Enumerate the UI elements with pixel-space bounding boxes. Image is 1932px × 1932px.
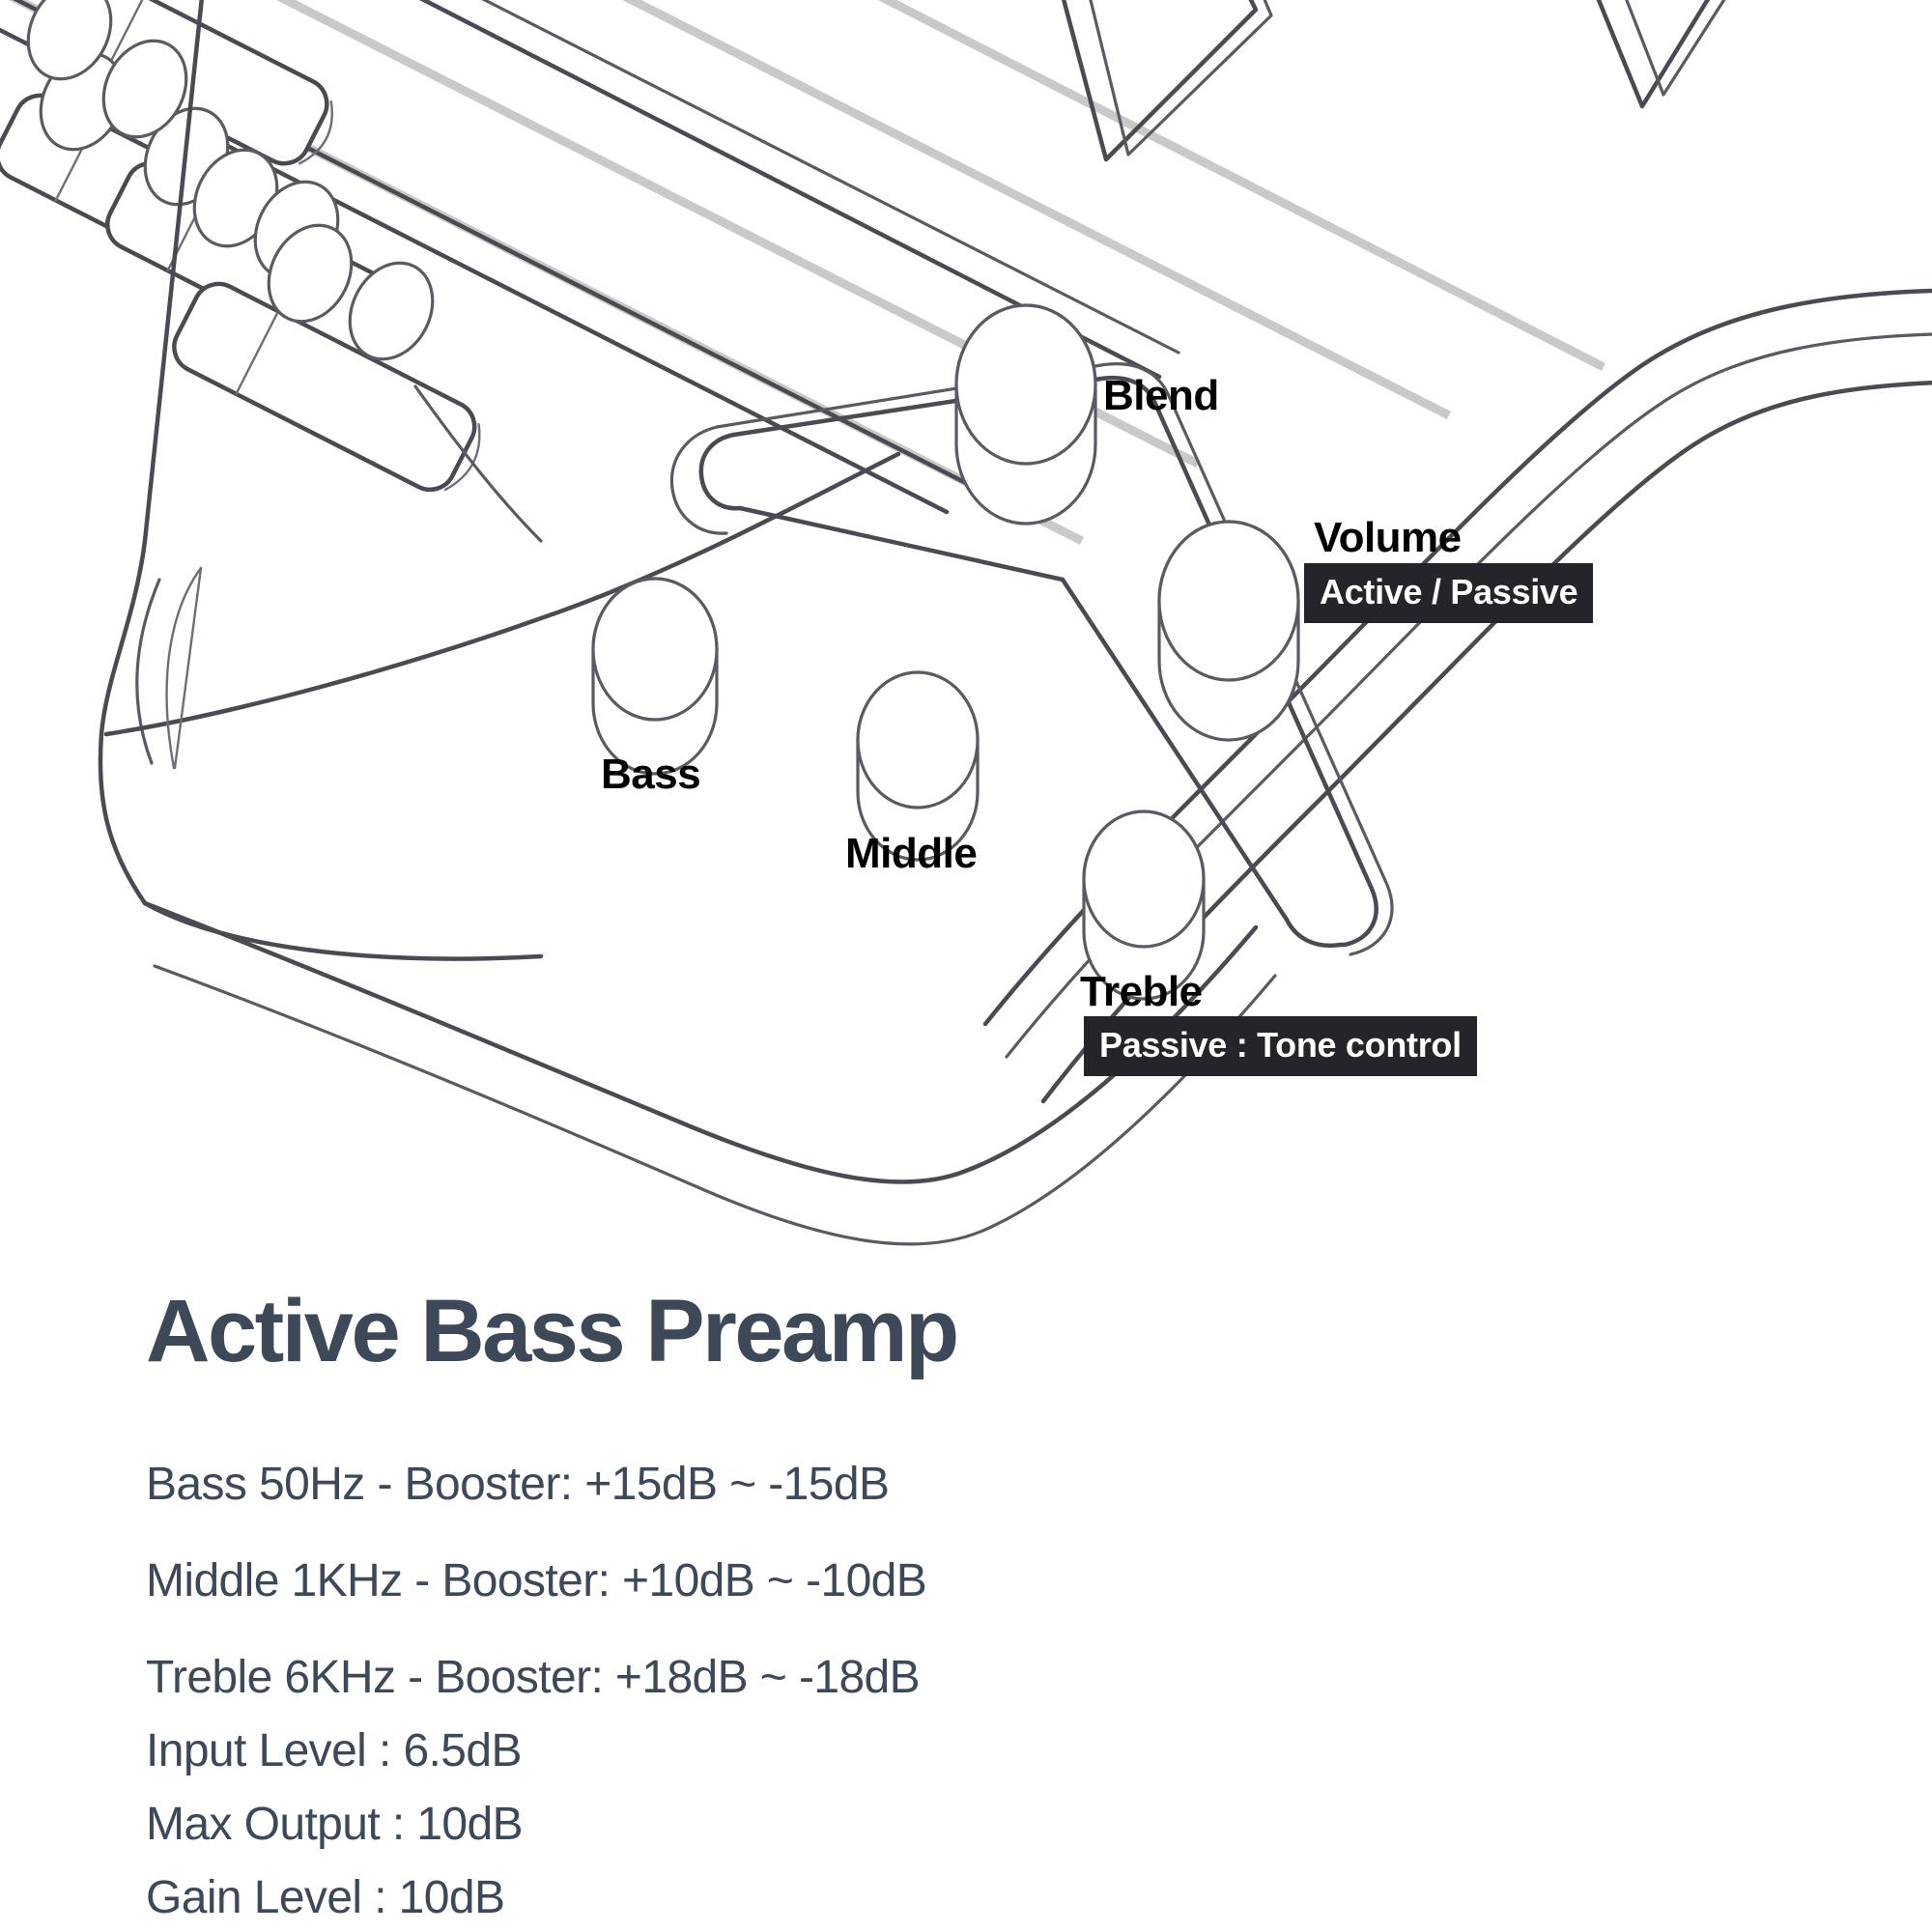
spec-line-input-level: Input Level : 6.5dB — [146, 1728, 1402, 1775]
knob-volume — [1159, 522, 1298, 740]
knob-label-bass: Bass — [601, 753, 700, 796]
spec-line-middle: Middle 1KHz - Booster: +10dB ~ -10dB — [146, 1558, 1402, 1605]
knob-label-middle: Middle — [845, 833, 977, 875]
knob-badge-volume: Active / Passive — [1304, 563, 1593, 623]
spec-line-treble: Treble 6KHz - Booster: +18dB ~ -18dB — [146, 1655, 1402, 1701]
bass-guitar-line-art: .ln { fill:none; stroke:#4a4a52; stroke-… — [0, 0, 1932, 1256]
spec-line-max-output: Max Output : 10dB — [146, 1802, 1402, 1848]
spec-line-gain-level: Gain Level : 10dB — [146, 1875, 1402, 1921]
tuning-machines-group — [0, 0, 495, 504]
bass-guitar-illustration: .ln { fill:none; stroke:#4a4a52; stroke-… — [0, 0, 1932, 1256]
page-title: Active Bass Preamp — [146, 1285, 1402, 1378]
knob-blend — [956, 305, 1095, 524]
knob-badge-treble: Passive : Tone control — [1084, 1016, 1477, 1076]
side-jack — [167, 568, 201, 768]
spec-line-bass: Bass 50Hz - Booster: +15dB ~ -15dB — [146, 1462, 1402, 1508]
knob-label-blend: Blend — [1103, 375, 1219, 417]
knob-bass — [593, 579, 717, 774]
knob-label-volume: Volume — [1314, 517, 1462, 559]
spec-list: Bass 50Hz - Booster: +15dB ~ -15dB Middl… — [146, 1462, 1402, 1921]
spec-section: Active Bass Preamp Bass 50Hz - Booster: … — [146, 1285, 1402, 1921]
knob-label-treble: Treble — [1080, 971, 1203, 1013]
